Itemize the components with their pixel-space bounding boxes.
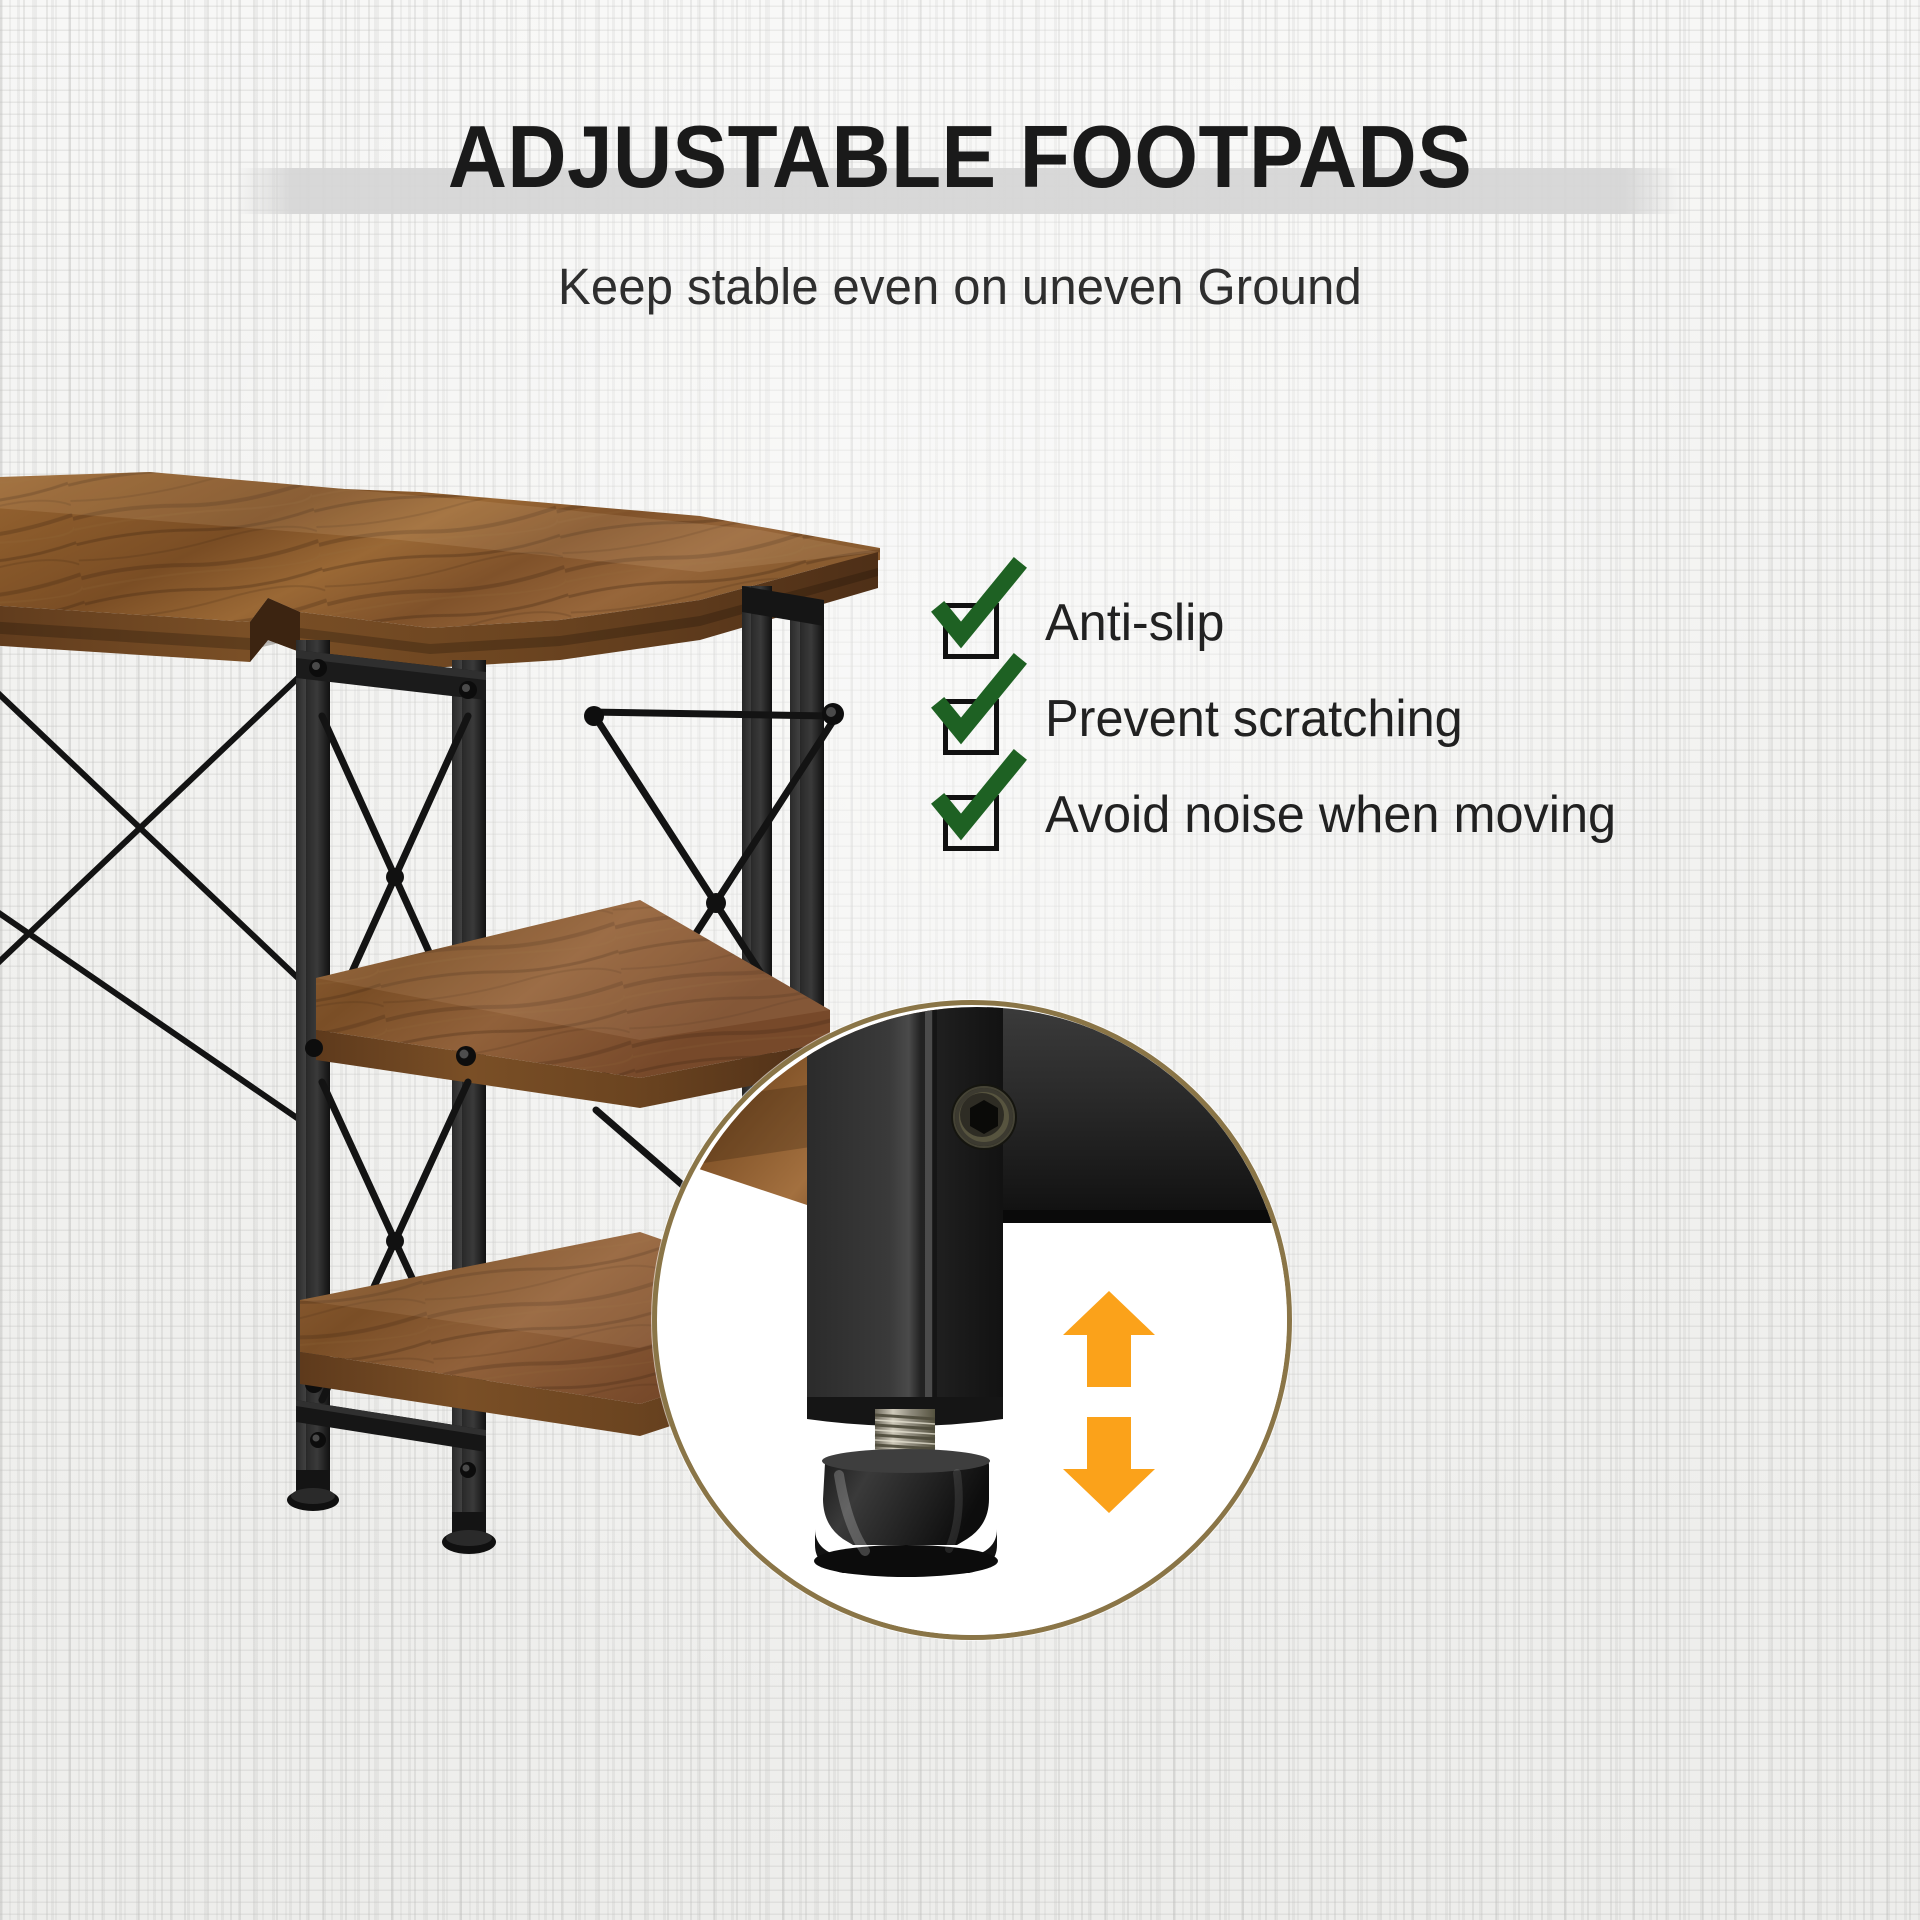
check-mark-icon	[931, 661, 1027, 757]
feature-label: Avoid noise when moving	[1045, 785, 1616, 845]
feature-item: Avoid noise when moving	[935, 767, 1634, 863]
page-subtitle: Keep stable even on uneven Ground	[38, 257, 1881, 316]
checkbox-checked-icon	[935, 771, 1023, 859]
feature-item: Anti-slip	[935, 575, 1634, 671]
feature-label: Anti-slip	[1045, 593, 1224, 653]
page-title: ADJUSTABLE FOOTPADS	[67, 113, 1853, 201]
check-mark-icon	[931, 757, 1027, 853]
feature-list: Anti-slip Prevent scratching Avoid noise…	[935, 575, 1634, 863]
footpad-closeup-inset	[652, 1000, 1292, 1640]
feature-label: Prevent scratching	[1045, 689, 1463, 749]
checkbox-checked-icon	[935, 675, 1023, 763]
feature-item: Prevent scratching	[935, 671, 1634, 767]
check-mark-icon	[931, 565, 1027, 661]
footpad-closeup-illustration	[657, 1005, 1292, 1640]
checkbox-checked-icon	[935, 579, 1023, 667]
